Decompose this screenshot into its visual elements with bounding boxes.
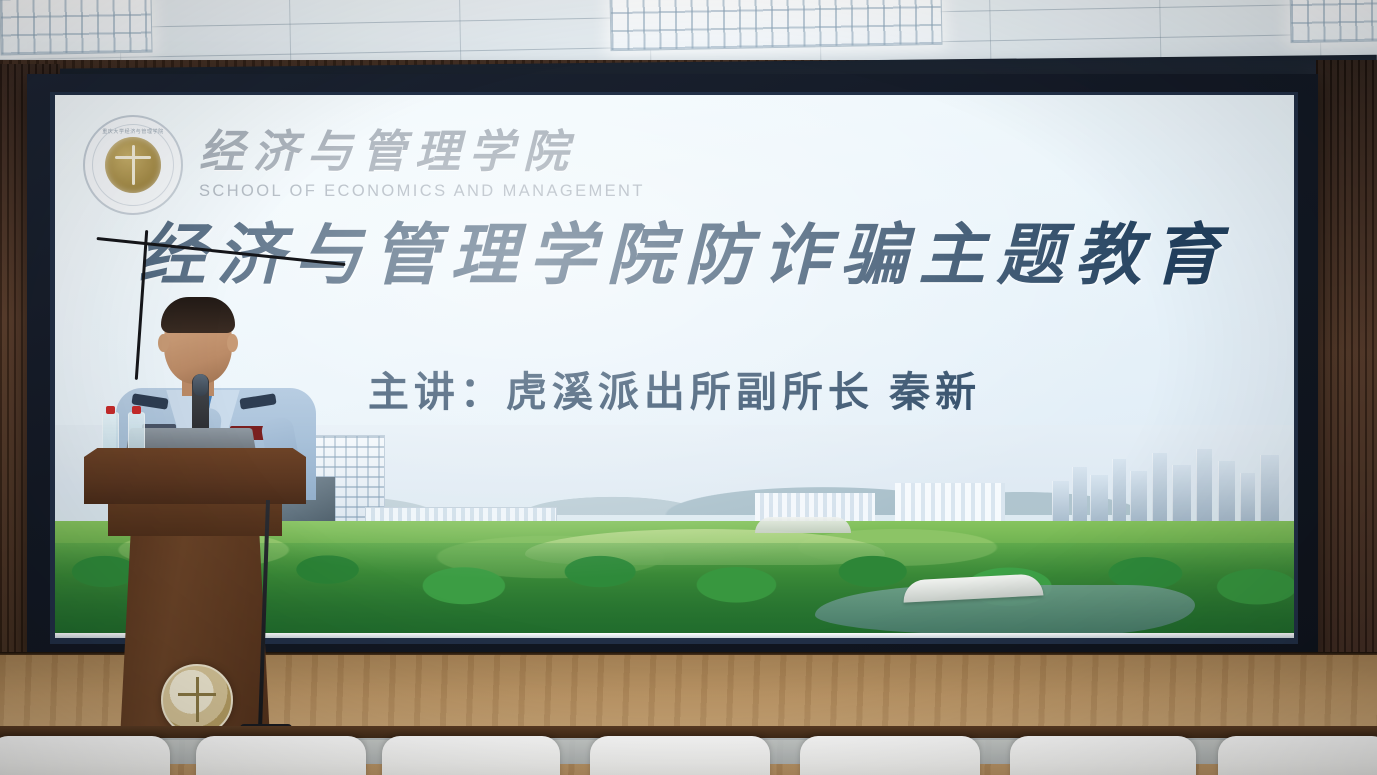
slide-title: 经济与管理学院防诈骗主题教育 xyxy=(55,223,1294,290)
podium-neck xyxy=(108,504,282,536)
audience-chair xyxy=(590,736,770,775)
slide-logo: 重庆大学经济与管理学院 经济与管理学院 SCHOOL OF ECONOMICS … xyxy=(83,115,645,215)
seal-ring-text: 重庆大学经济与管理学院 xyxy=(85,128,181,135)
audience-chair xyxy=(1218,736,1377,775)
ceiling-light-panel xyxy=(0,0,153,55)
speaker-hair xyxy=(161,297,235,333)
audience-chair xyxy=(0,736,170,775)
ceiling-light-panel xyxy=(1289,0,1377,43)
right-wall-panel xyxy=(1316,60,1377,710)
audience-chair xyxy=(1010,736,1196,775)
microphone-icon xyxy=(192,374,209,436)
podium-top xyxy=(84,448,306,504)
institution-name-en: SCHOOL OF ECONOMICS AND MANAGEMENT xyxy=(199,182,645,201)
university-seal-icon: 重庆大学经济与管理学院 xyxy=(83,115,183,215)
audience-chair xyxy=(800,736,980,775)
logo-text-block: 经济与管理学院 SCHOOL OF ECONOMICS AND MANAGEME… xyxy=(199,129,645,200)
institution-name-cn: 经济与管理学院 xyxy=(199,129,645,176)
ceiling-light-panel xyxy=(609,0,942,51)
water-bottle xyxy=(102,412,119,452)
speaker-ear-right xyxy=(227,334,238,352)
audience-chair xyxy=(196,736,366,775)
lecture-hall-scene: 重庆大学经济与管理学院 经济与管理学院 SCHOOL OF ECONOMICS … xyxy=(0,0,1377,775)
podium xyxy=(84,448,306,740)
audience-chair-row xyxy=(0,726,1377,775)
podium-body xyxy=(120,536,270,740)
seal-core xyxy=(105,137,161,193)
speaker-ear-left xyxy=(158,334,169,352)
audience-chair xyxy=(382,736,560,775)
far-bridge xyxy=(755,517,851,533)
water-bottle xyxy=(128,412,145,452)
